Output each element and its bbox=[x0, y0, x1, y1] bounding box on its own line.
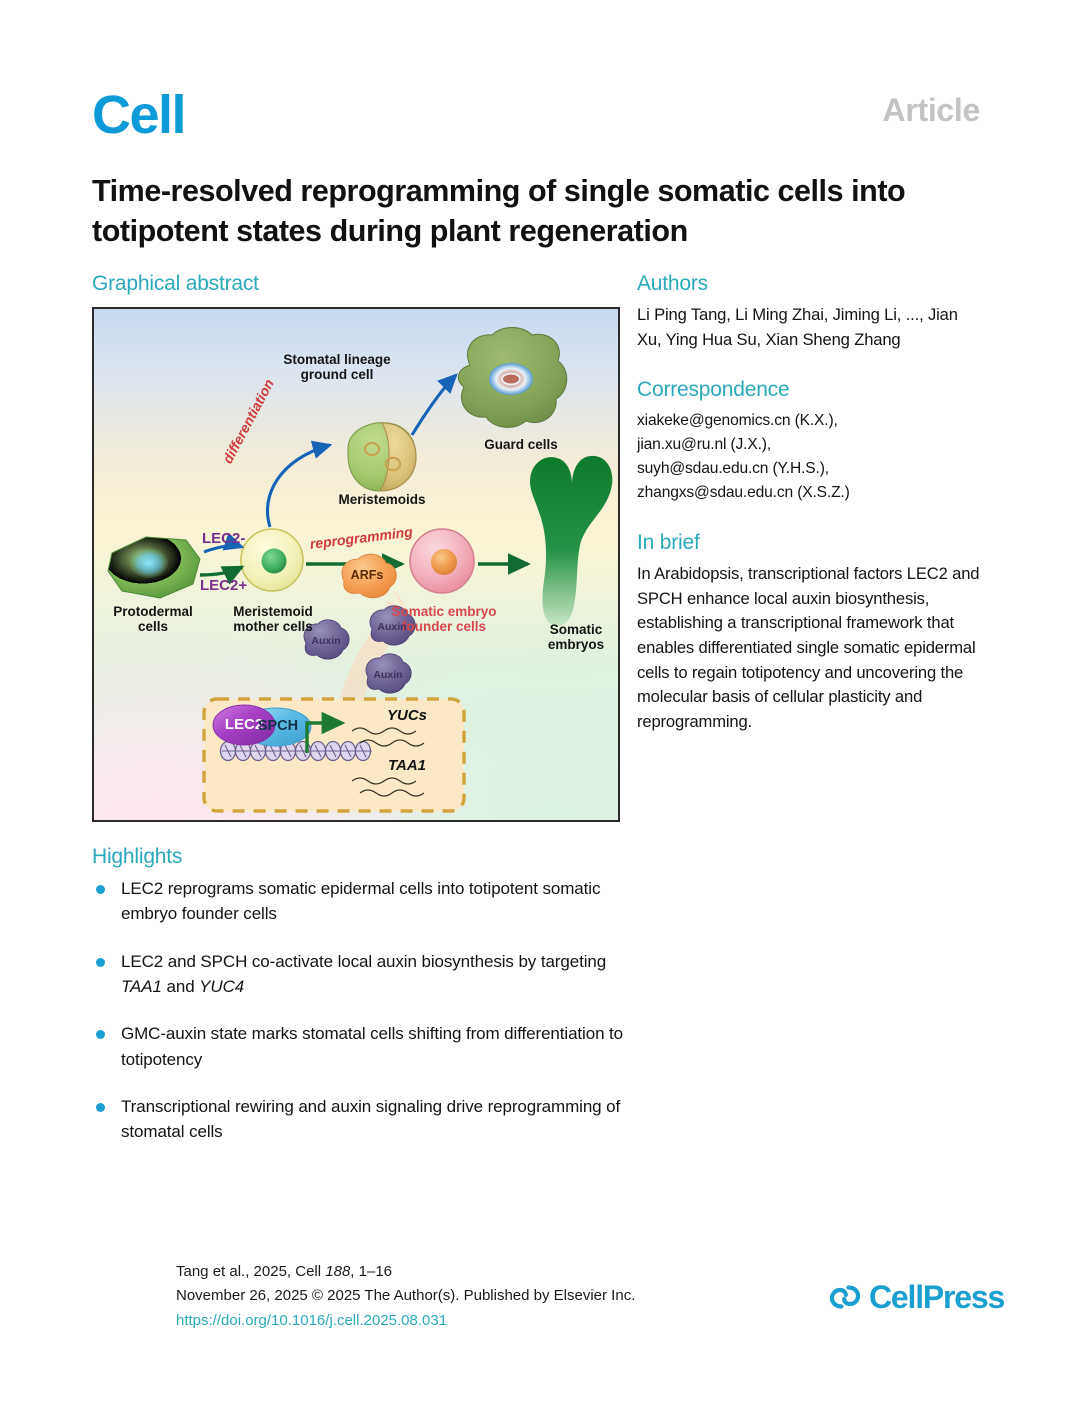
citation-prefix: Tang et al., 2025, Cell bbox=[176, 1263, 325, 1280]
list-item: LEC2 and SPCH co-activate local auxin bi… bbox=[92, 949, 632, 1000]
label-guard-cells: Guard cells bbox=[466, 437, 576, 452]
correspondence-email-1[interactable]: xiakeke@genomics.cn (K.X.), bbox=[637, 409, 982, 433]
label-arfs: ARFs bbox=[341, 568, 393, 582]
authors-section: Authors Li Ping Tang, Li Ming Zhai, Jimi… bbox=[637, 272, 982, 352]
list-item: GMC-auxin state marks stomatal cells shi… bbox=[92, 1021, 632, 1072]
footer: Tang et al., 2025, Cell 188, 1–16 Novemb… bbox=[176, 1261, 796, 1334]
graphical-abstract-heading: Graphical abstract bbox=[92, 272, 259, 296]
citation-line: Tang et al., 2025, Cell 188, 1–16 bbox=[176, 1261, 796, 1282]
label-meristemoids: Meristemoids bbox=[326, 492, 438, 507]
correspondence-email-3[interactable]: suyh@sdau.edu.cn (Y.H.S.), bbox=[637, 457, 982, 481]
list-item: Transcriptional rewiring and auxin signa… bbox=[92, 1094, 632, 1145]
label-protodermal-cells: Protodermal cells bbox=[99, 604, 207, 635]
label-lec2-minus: LEC2- bbox=[202, 530, 245, 547]
meristemoid-mother-cell-graphic bbox=[241, 529, 303, 591]
highlights-heading: Highlights bbox=[92, 845, 182, 869]
meristemoid-to-guard-arrow bbox=[412, 375, 456, 435]
cellpress-logo: CellPress bbox=[828, 1280, 1004, 1314]
correspondence-section: Correspondence xiakeke@genomics.cn (K.X.… bbox=[637, 378, 982, 504]
cellpress-swirl-icon bbox=[828, 1280, 862, 1314]
label-auxin-3: Auxin bbox=[362, 669, 414, 681]
label-taa1: TAA1 bbox=[376, 757, 438, 774]
correspondence-email-4[interactable]: zhangxs@sdau.edu.cn (X.S.Z.) bbox=[637, 481, 982, 505]
in-brief-heading: In brief bbox=[637, 531, 982, 555]
cellpress-wordmark: CellPress bbox=[869, 1281, 1004, 1313]
correspondence-email-2[interactable]: jian.xu@ru.nl (J.X.), bbox=[637, 433, 982, 457]
highlight-text-2: LEC2 and SPCH co-activate local auxin bi… bbox=[121, 949, 632, 1000]
label-somatic-embryos: Somatic embryos bbox=[534, 622, 618, 653]
somatic-embryo-founder-cell-graphic bbox=[410, 529, 474, 593]
bullet-icon bbox=[96, 1030, 105, 1039]
somatic-embryo-graphic bbox=[530, 456, 612, 626]
citation-volume: 188 bbox=[325, 1263, 350, 1280]
citation-suffix: , 1–16 bbox=[350, 1263, 392, 1280]
differentiation-arrow bbox=[268, 445, 331, 527]
label-spch-protein: SPCH bbox=[250, 718, 306, 734]
in-brief-text: In Arabidopsis, transcriptional factors … bbox=[637, 562, 982, 735]
highlight-text-4: Transcriptional rewiring and auxin signa… bbox=[121, 1094, 632, 1145]
bullet-icon bbox=[96, 958, 105, 967]
label-yucs: YUCs bbox=[376, 707, 438, 724]
guard-cells-graphic bbox=[458, 328, 566, 428]
label-meristemoid-mother-cells: Meristemoid mother cells bbox=[218, 604, 328, 635]
authors-heading: Authors bbox=[637, 272, 982, 296]
bullet-icon bbox=[96, 885, 105, 894]
meristemoids-graphic bbox=[348, 423, 416, 491]
list-item: LEC2 reprograms somatic epidermal cells … bbox=[92, 876, 632, 927]
page-root: Cell Article Time-resolved reprogramming… bbox=[0, 0, 1080, 1403]
copyright-line: November 26, 2025 © 2025 The Author(s). … bbox=[176, 1285, 796, 1306]
authors-list: Li Ping Tang, Li Ming Zhai, Jiming Li, .… bbox=[637, 303, 982, 352]
in-brief-section: In brief In Arabidopsis, transcriptional… bbox=[637, 531, 982, 735]
article-type-label: Article bbox=[883, 92, 981, 129]
figure-canvas: Stomatal lineage ground cell Guard cells… bbox=[94, 309, 618, 820]
doi-link[interactable]: https://doi.org/10.1016/j.cell.2025.08.0… bbox=[176, 1310, 796, 1331]
lec2-plus-arrow bbox=[200, 567, 242, 575]
figure-svg bbox=[94, 309, 618, 820]
label-stomatal-lineage-ground-cell: Stomatal lineage ground cell bbox=[262, 352, 412, 383]
label-auxin-1: Auxin bbox=[300, 635, 352, 647]
masthead: Cell Article bbox=[92, 88, 980, 158]
cell-journal-logo: Cell bbox=[92, 88, 185, 142]
highlight-text-1: LEC2 reprograms somatic epidermal cells … bbox=[121, 876, 632, 927]
bullet-icon bbox=[96, 1103, 105, 1112]
page-title: Time-resolved reprogramming of single so… bbox=[92, 172, 982, 252]
label-auxin-2: Auxin bbox=[366, 621, 418, 633]
protodermal-cell-graphic bbox=[108, 537, 200, 598]
highlights-list: LEC2 reprograms somatic epidermal cells … bbox=[92, 876, 632, 1167]
right-column: Authors Li Ping Tang, Li Ming Zhai, Jimi… bbox=[637, 272, 982, 761]
highlight-text-3: GMC-auxin state marks stomatal cells shi… bbox=[121, 1021, 632, 1072]
correspondence-heading: Correspondence bbox=[637, 378, 982, 402]
graphical-abstract-figure: Stomatal lineage ground cell Guard cells… bbox=[92, 307, 620, 822]
label-lec2-plus: LEC2+ bbox=[200, 577, 247, 594]
